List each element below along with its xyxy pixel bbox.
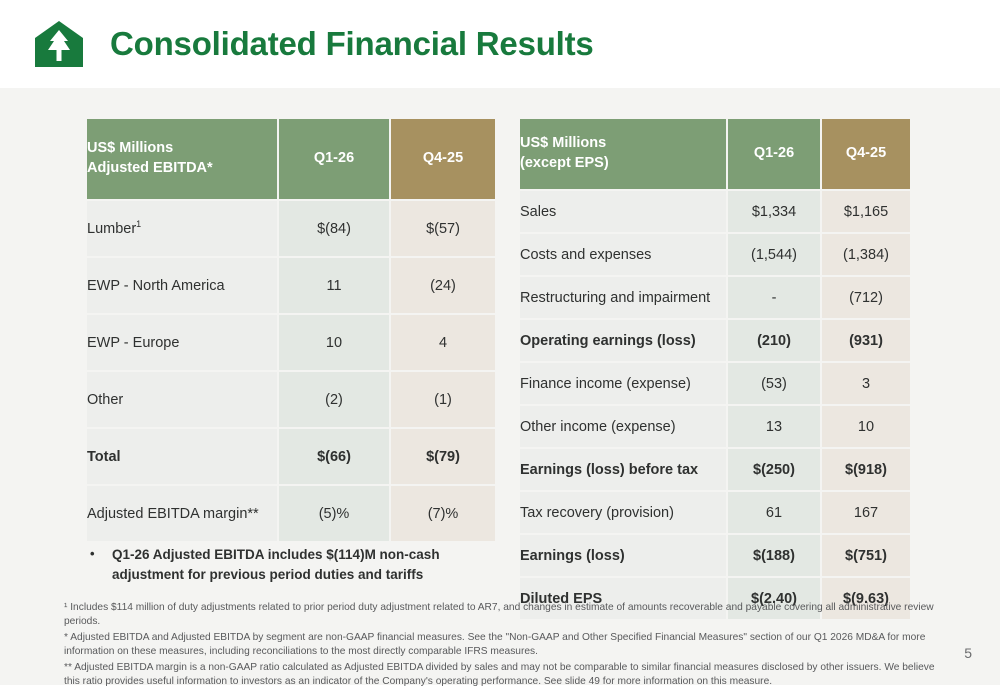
income-statement-table: US$ Millions (except EPS) Q1-26 Q4-25 Sa… [518,117,912,621]
row-label: Sales [520,191,726,232]
cell-q4-25: $(57) [391,201,495,256]
table-row: Costs and expenses (1,544) (1,384) [520,234,910,275]
header-line-1: US$ Millions [520,135,606,151]
cell-q1-26: (53) [728,363,820,404]
cell-q4-25: (1) [391,372,495,427]
table-row-subtotal: Earnings (loss) before tax $(250) $(918) [520,449,910,490]
footnote-1: ¹ Includes $114 million of duty adjustme… [64,601,944,630]
bullet-text: Q1-26 Adjusted EBITDA includes $(114)M n… [112,545,508,584]
row-label: Adjusted EBITDA margin** [87,486,277,541]
cell-q4-25: $(918) [822,449,910,490]
cell-q1-26: 13 [728,406,820,447]
footnotes: ¹ Includes $114 million of duty adjustme… [64,601,944,691]
cell-q1-26: 61 [728,492,820,533]
row-label: Restructuring and impairment [520,277,726,318]
table-header-row: US$ Millions Adjusted EBITDA* Q1-26 Q4-2… [87,119,495,199]
header-line-1: US$ Millions [87,140,173,156]
cell-q1-26: (2) [279,372,389,427]
cell-q1-26: $(188) [728,535,820,576]
bullet-note: • Q1-26 Adjusted EBITDA includes $(114)M… [88,545,508,584]
cell-q4-25: $(751) [822,535,910,576]
page-title: Consolidated Financial Results [110,25,594,63]
row-label-text: Lumber [87,221,136,237]
row-label: EWP - North America [87,258,277,313]
table-row-total: Earnings (loss) $(188) $(751) [520,535,910,576]
table-row: Lumber1 $(84) $(57) [87,201,495,256]
house-tree-logo-icon [34,20,84,68]
table-row-total: Total $(66) $(79) [87,429,495,484]
table-row: Other (2) (1) [87,372,495,427]
row-label: Operating earnings (loss) [520,320,726,361]
cell-q1-26: (5)% [279,486,389,541]
row-label: Total [87,429,277,484]
table-row-subtotal: Operating earnings (loss) (210) (931) [520,320,910,361]
table-row: EWP - North America 11 (24) [87,258,495,313]
table-row: Finance income (expense) (53) 3 [520,363,910,404]
cell-q4-25: 3 [822,363,910,404]
cell-q1-26: $(66) [279,429,389,484]
cell-q4-25: (1,384) [822,234,910,275]
table-row: Other income (expense) 13 10 [520,406,910,447]
footnote-double-asterisk: ** Adjusted EBITDA margin is a non-GAAP … [64,661,944,690]
cell-q1-26: $(250) [728,449,820,490]
column-header-label: US$ Millions (except EPS) [520,119,726,189]
header-line-2: (except EPS) [520,155,609,171]
cell-q4-25: 10 [822,406,910,447]
cell-q1-26: 11 [279,258,389,313]
cell-q4-25: 4 [391,315,495,370]
slide: Consolidated Financial Results US$ Milli… [0,0,1000,685]
cell-q4-25: (712) [822,277,910,318]
table-row: Sales $1,334 $1,165 [520,191,910,232]
header-line-2: Adjusted EBITDA* [87,160,213,176]
cell-q4-25: $(79) [391,429,495,484]
table-header-row: US$ Millions (except EPS) Q1-26 Q4-25 [520,119,910,189]
row-label: Lumber1 [87,201,277,256]
cell-q4-25: $1,165 [822,191,910,232]
column-header-q1-26: Q1-26 [279,119,389,199]
cell-q4-25: (7)% [391,486,495,541]
table-row: Tax recovery (provision) 61 167 [520,492,910,533]
cell-q4-25: (24) [391,258,495,313]
row-label: Other income (expense) [520,406,726,447]
cell-q1-26: - [728,277,820,318]
column-header-q1-26: Q1-26 [728,119,820,189]
footnote-asterisk: * Adjusted EBITDA and Adjusted EBITDA by… [64,631,944,660]
column-header-label: US$ Millions Adjusted EBITDA* [87,119,277,199]
bullet-marker: • [88,545,112,584]
adjusted-ebitda-table: US$ Millions Adjusted EBITDA* Q1-26 Q4-2… [85,117,497,543]
cell-q1-26: (1,544) [728,234,820,275]
page-number: 5 [964,645,972,661]
column-header-q4-25: Q4-25 [391,119,495,199]
column-header-q4-25: Q4-25 [822,119,910,189]
row-label: Costs and expenses [520,234,726,275]
table-row: EWP - Europe 10 4 [87,315,495,370]
row-label: Other [87,372,277,427]
row-label: Earnings (loss) before tax [520,449,726,490]
cell-q4-25: 167 [822,492,910,533]
cell-q4-25: (931) [822,320,910,361]
row-label: Finance income (expense) [520,363,726,404]
table-row: Restructuring and impairment - (712) [520,277,910,318]
footnote-marker: 1 [136,219,141,229]
title-band: Consolidated Financial Results [0,0,1000,88]
cell-q1-26: (210) [728,320,820,361]
row-label: Earnings (loss) [520,535,726,576]
cell-q1-26: 10 [279,315,389,370]
cell-q1-26: $1,334 [728,191,820,232]
row-label: EWP - Europe [87,315,277,370]
cell-q1-26: $(84) [279,201,389,256]
table-row: Adjusted EBITDA margin** (5)% (7)% [87,486,495,541]
row-label: Tax recovery (provision) [520,492,726,533]
